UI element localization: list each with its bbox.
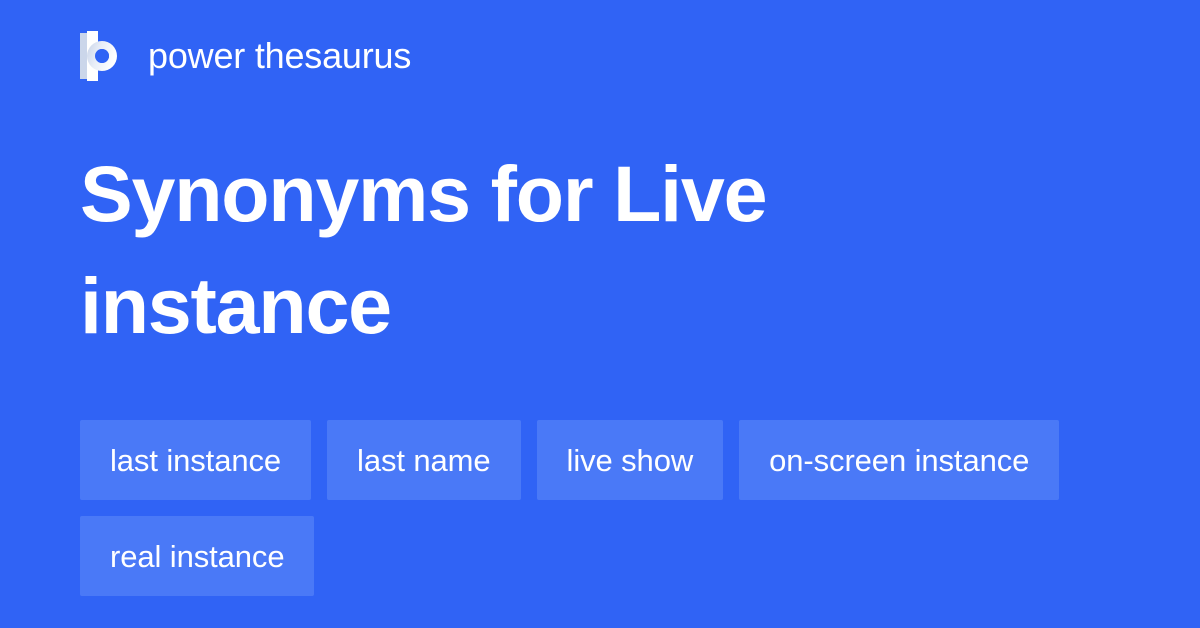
power-thesaurus-logo-icon [80, 31, 126, 81]
social-share-card: power thesaurus Synonyms for Live instan… [0, 0, 1200, 628]
page-title: Synonyms for Live instance [80, 138, 1090, 362]
synonym-chip[interactable]: on-screen instance [739, 420, 1059, 500]
brand-header[interactable]: power thesaurus [80, 28, 411, 84]
synonym-chip[interactable]: last instance [80, 420, 311, 500]
synonym-chip[interactable]: last name [327, 420, 521, 500]
synonym-chip[interactable]: live show [537, 420, 724, 500]
brand-name: power thesaurus [148, 38, 411, 74]
synonym-chip-list: last instance last name live show on-scr… [80, 420, 1120, 596]
synonym-chip[interactable]: real instance [80, 516, 314, 596]
